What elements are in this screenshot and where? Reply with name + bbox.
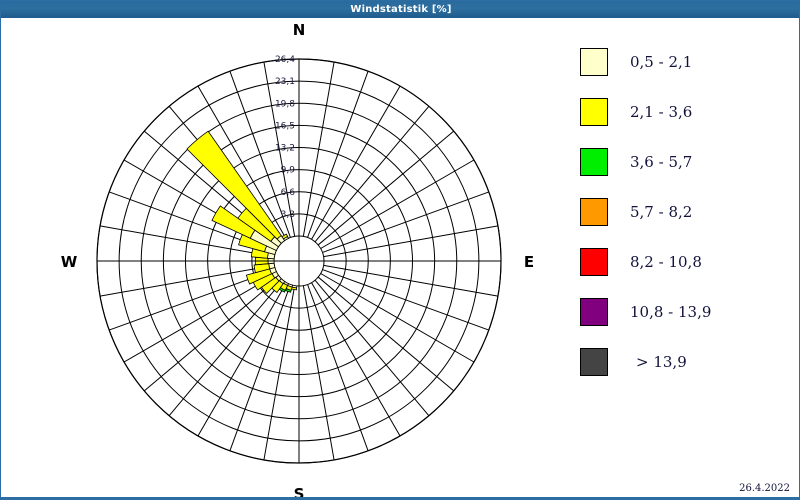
grid-spoke	[144, 277, 280, 391]
grid-spoke	[315, 280, 429, 416]
grid-spoke	[169, 280, 283, 416]
speed-class-legend: 0,5 - 2,12,1 - 3,63,6 - 5,75,7 - 8,28,2 …	[580, 37, 795, 387]
grid-spoke	[318, 131, 454, 245]
radial-tick-label: 9,9	[281, 166, 296, 176]
grid-spoke	[321, 274, 474, 363]
grid-spoke	[322, 192, 488, 253]
grid-spoke	[321, 160, 474, 249]
legend-item-label: > 13,9	[636, 353, 687, 371]
window-titlebar: Windstatistik [%]	[1, 1, 800, 18]
compass-label-north: N	[293, 21, 306, 39]
legend-item-label: 0,5 - 2,1	[630, 53, 692, 71]
legend-color-swatch	[580, 198, 608, 226]
wind-rose-plot: 3,36,69,913,216,519,823,126,4 NSEW	[2, 19, 562, 498]
legend-color-swatch	[580, 248, 608, 276]
grid-spoke	[308, 71, 369, 237]
grid-spoke	[318, 277, 454, 391]
radial-tick-label: 3,3	[281, 210, 295, 220]
grid-spoke	[322, 270, 488, 331]
legend-color-swatch	[580, 298, 608, 326]
compass-label-west: W	[61, 253, 78, 271]
legend-color-swatch	[580, 98, 608, 126]
legend-item-label: 5,7 - 8,2	[630, 203, 692, 221]
legend-item: 5,7 - 8,2	[580, 187, 795, 237]
legend-item-label: 2,1 - 3,6	[630, 103, 692, 121]
polar-axes	[97, 59, 501, 463]
legend-item-label: 3,6 - 5,7	[630, 153, 692, 171]
date-stamp: 26.4.2022	[739, 483, 790, 494]
legend-item: 10,8 - 13,9	[580, 287, 795, 337]
window-title: Windstatistik [%]	[350, 4, 451, 15]
grid-spoke	[264, 286, 295, 460]
grid-spoke	[198, 283, 287, 436]
grid-spoke	[324, 226, 498, 257]
chart-canvas: 3,36,69,913,216,519,823,126,4 NSEW 0,5 -…	[2, 19, 798, 498]
grid-spoke	[324, 265, 498, 296]
legend-item: 8,2 - 10,8	[580, 237, 795, 287]
legend-item: 0,5 - 2,1	[580, 37, 795, 87]
grid-spoke	[303, 62, 334, 236]
grid-spoke	[303, 286, 334, 460]
grid-spoke	[312, 86, 401, 239]
grid-spoke	[315, 106, 429, 242]
radial-tick-label: 23,1	[275, 77, 295, 87]
legend-item-label: 10,8 - 13,9	[630, 303, 711, 321]
radial-tick-label: 6,6	[281, 188, 296, 198]
radial-tick-label: 16,5	[275, 121, 295, 131]
radial-tick-label: 26,4	[275, 55, 295, 65]
legend-item-label: 8,2 - 10,8	[630, 253, 702, 271]
legend-color-swatch	[580, 48, 608, 76]
grid-spoke	[308, 284, 369, 450]
legend-item: 3,6 - 5,7	[580, 137, 795, 187]
legend-color-swatch	[580, 348, 608, 376]
legend-color-swatch	[580, 148, 608, 176]
wind-rose-svg: 3,36,69,913,216,519,823,126,4 NSEW	[2, 19, 562, 498]
grid-spoke	[124, 274, 277, 363]
compass-label-east: E	[524, 253, 534, 271]
bottom-accent-rule	[1, 497, 800, 499]
radial-tick-label: 13,2	[275, 144, 295, 154]
wind-statistics-window: Windstatistik [%] 3,36,69,913,216,519,82…	[0, 0, 800, 500]
grid-spoke	[312, 283, 401, 436]
grid-spoke	[230, 284, 291, 450]
legend-item: > 13,9	[580, 337, 795, 387]
legend-item: 2,1 - 3,6	[580, 87, 795, 137]
radial-tick-label: 19,8	[275, 99, 295, 109]
